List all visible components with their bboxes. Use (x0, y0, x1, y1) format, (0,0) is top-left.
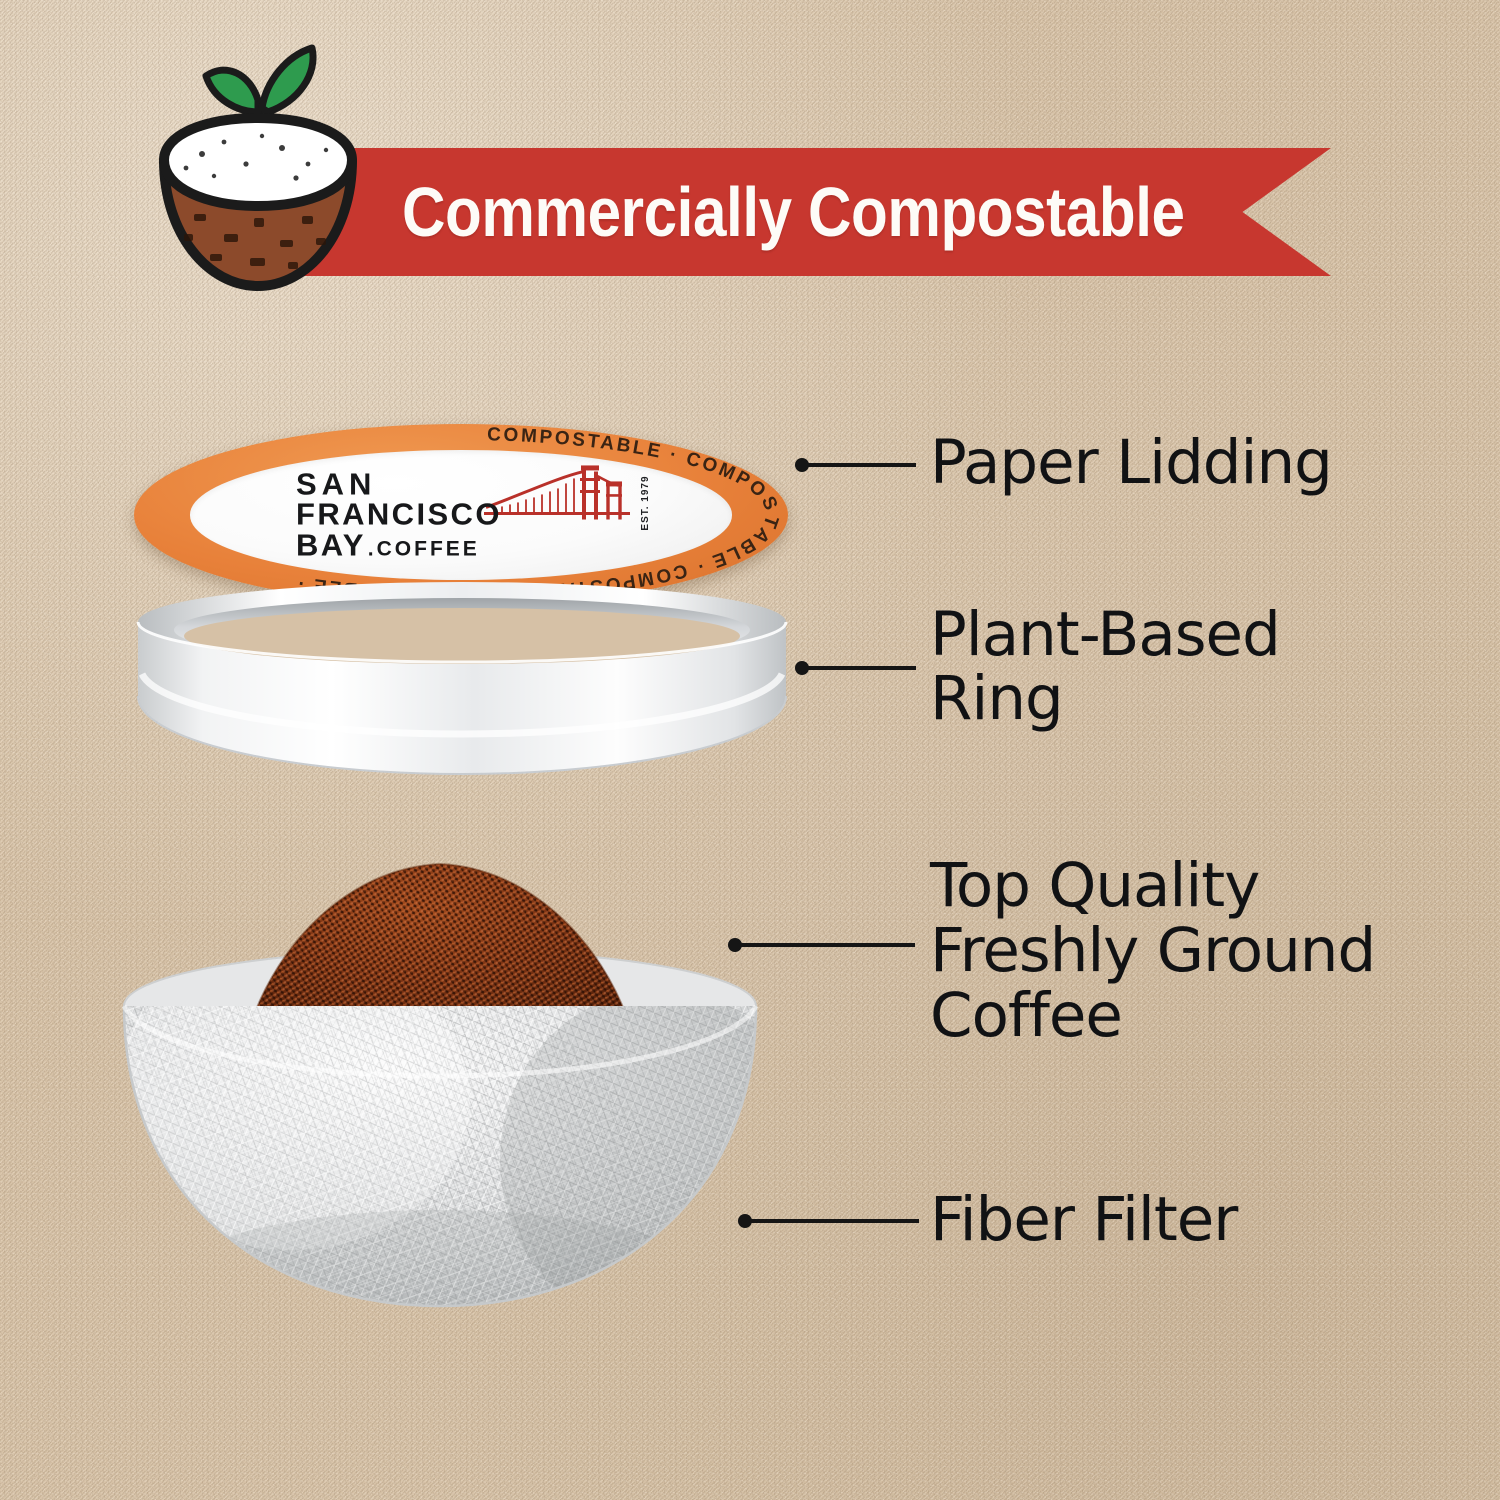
leader-stroke (747, 1219, 919, 1223)
banner-title: Commercially Compostable (402, 177, 1185, 247)
compostable-banner: Commercially Compostable (290, 148, 1331, 276)
logo-line-francisco: FRANCISCO (296, 500, 626, 530)
product-infographic: Commercially Compostable (0, 0, 1500, 1500)
callout-label-plant-based-ring-line2: Ring (930, 668, 1063, 730)
logo-line-coffee: .COFFEE (368, 539, 480, 560)
callout-label-ground-coffee-line2: Freshly Ground (930, 920, 1375, 982)
established-year: EST. 1979 (640, 475, 651, 530)
callout-label-ground-coffee-line1: Top Quality (930, 855, 1259, 917)
sfbay-coffee-logo: EST. 1979 SAN FRANCISCO BAY .COFFEE (296, 469, 626, 560)
leader-stroke (804, 666, 916, 670)
callout-label-ground-coffee-line3: Coffee (930, 985, 1122, 1047)
callout-label-paper-lidding: Paper Lidding (930, 432, 1332, 494)
leader-stroke (804, 463, 916, 467)
fiber-filter-with-grounds (100, 830, 780, 1330)
callout-label-fiber-filter: Fiber Filter (930, 1189, 1237, 1251)
sprout-in-pot-icon (150, 38, 370, 298)
callout-label-plant-based-ring-line1: Plant-Based (930, 604, 1280, 666)
lid-white-face: EST. 1979 SAN FRANCISCO BAY .COFFEE (190, 450, 732, 579)
plant-based-ring (128, 578, 796, 790)
logo-line-san: SAN (296, 469, 626, 499)
leader-stroke (737, 943, 915, 947)
logo-line-bay: BAY (296, 530, 366, 560)
